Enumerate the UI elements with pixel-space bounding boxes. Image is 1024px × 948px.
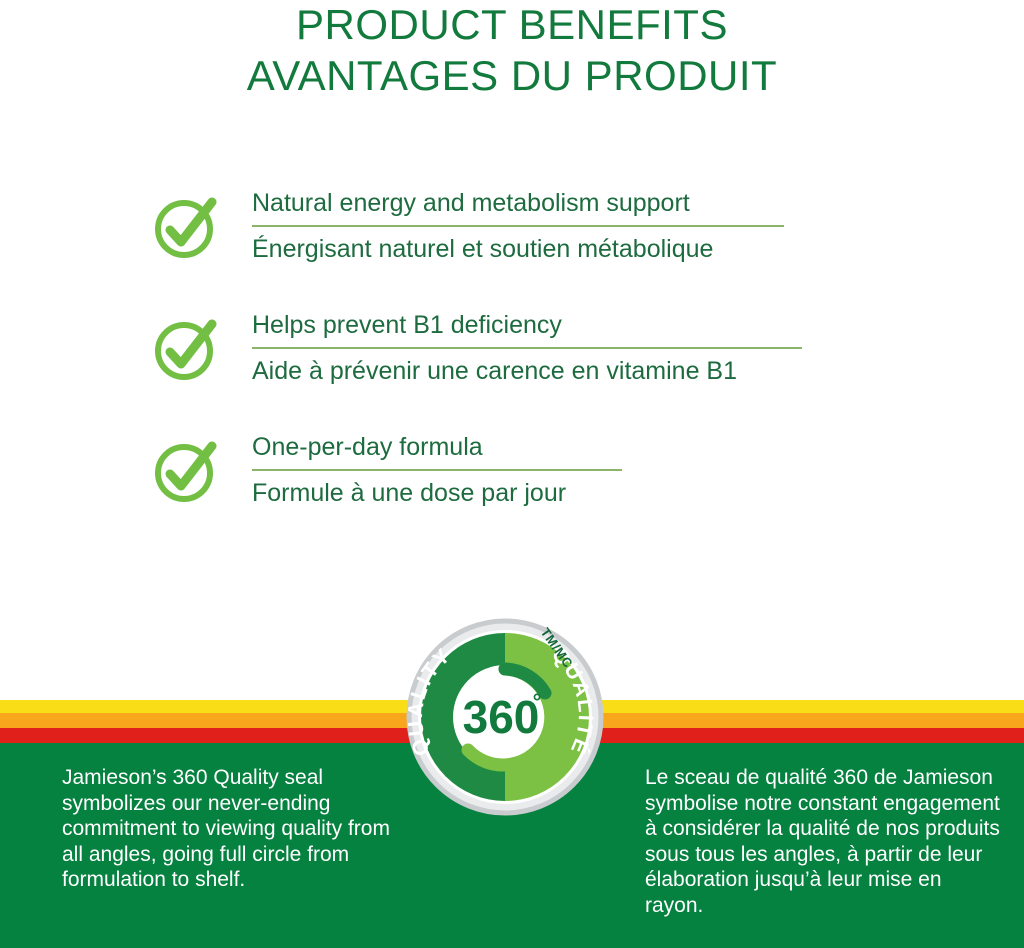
page-title-french: AVANTAGES DU PRODUIT [0, 48, 1024, 99]
benefit-text-english: Natural energy and metabolism support [252, 188, 784, 218]
benefit-text-english: One-per-day formula [252, 432, 622, 462]
benefit-text-french: Formule à une dose par jour [252, 478, 622, 508]
page-title: PRODUCT BENEFITS AVANTAGES DU PRODUIT [0, 0, 1024, 99]
benefit-item: Natural energy and metabolism support Én… [0, 186, 1024, 264]
footer-text-english: Jamieson’s 360 Quality seal symbolizes o… [62, 765, 402, 893]
benefit-text-group: Natural energy and metabolism support Én… [224, 186, 784, 264]
benefit-item: Helps prevent B1 deficiency Aide à préve… [0, 308, 1024, 386]
page-title-english: PRODUCT BENEFITS [0, 0, 1024, 48]
benefit-item: One-per-day formula Formule à une dose p… [0, 430, 1024, 508]
benefit-divider [252, 225, 784, 227]
benefit-text-french: Énergisant naturel et soutien métaboliqu… [252, 234, 784, 264]
benefit-text-french: Aide à prévenir une carence en vitamine … [252, 356, 802, 386]
seal-degree-symbol: ° [533, 689, 542, 714]
seal-center-label: 360 [463, 691, 540, 743]
benefit-divider [252, 347, 802, 349]
check-circle-icon [152, 430, 224, 504]
benefit-text-group: One-per-day formula Formule à une dose p… [224, 430, 622, 508]
footer-text-french: Le sceau de qualité 360 de Jamieson symb… [645, 765, 1005, 918]
benefits-list: Natural energy and metabolism support Én… [0, 186, 1024, 552]
check-circle-icon [152, 308, 224, 382]
check-circle-icon [152, 186, 224, 260]
benefit-text-english: Helps prevent B1 deficiency [252, 310, 802, 340]
benefit-divider [252, 469, 622, 471]
benefit-text-group: Helps prevent B1 deficiency Aide à préve… [224, 308, 802, 386]
quality-360-seal: 360 ° QUALITY QUALITÉ TM/MC [405, 617, 605, 817]
